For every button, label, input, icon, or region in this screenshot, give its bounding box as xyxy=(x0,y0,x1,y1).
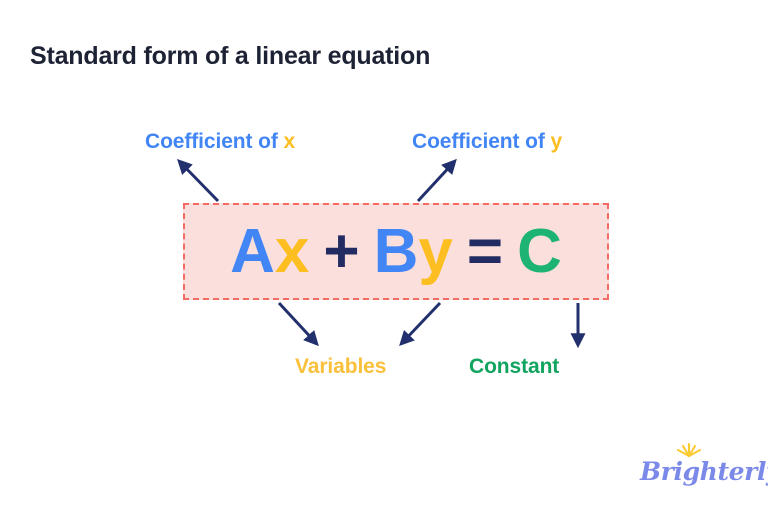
equation-term-y: y xyxy=(418,221,452,283)
brand-logo: Brighterly xyxy=(640,440,752,486)
arrow-to-coefficient-x-icon xyxy=(180,162,218,201)
equation-term-c: C xyxy=(517,221,562,283)
slide-canvas: Standard form of a linear equation Coeff… xyxy=(0,0,768,512)
arrow-to-coefficient-y-icon xyxy=(418,162,454,201)
brand-wordmark: Brighterly xyxy=(640,457,768,486)
callout-label-coefficient-x: Coefficient of x xyxy=(145,130,295,154)
callout-label-variables: Variables xyxy=(295,355,386,379)
callout-label-constant: Constant xyxy=(469,355,559,379)
equation-term-b: B xyxy=(374,221,419,283)
callout-coefficient-y-variable: y xyxy=(551,130,563,153)
equation-operator-equals: = xyxy=(467,221,503,283)
equation-highlight-box: Ax+By=C xyxy=(183,203,609,300)
arrow-to-variables-from-x-icon xyxy=(279,303,316,343)
callout-coefficient-y-prefix: Coefficient of xyxy=(412,130,551,153)
equation-operator-plus: + xyxy=(323,221,359,283)
sunburst-icon xyxy=(674,440,704,458)
equation-term-x: x xyxy=(275,221,309,283)
callout-coefficient-x-prefix: Coefficient of xyxy=(145,130,284,153)
callout-label-coefficient-y: Coefficient of y xyxy=(412,130,562,154)
equation-expression: Ax+By=C xyxy=(230,221,562,283)
equation-term-a: A xyxy=(230,221,275,283)
arrow-to-variables-from-y-icon xyxy=(402,303,440,343)
callout-coefficient-x-variable: x xyxy=(284,130,296,153)
page-title: Standard form of a linear equation xyxy=(30,42,430,71)
